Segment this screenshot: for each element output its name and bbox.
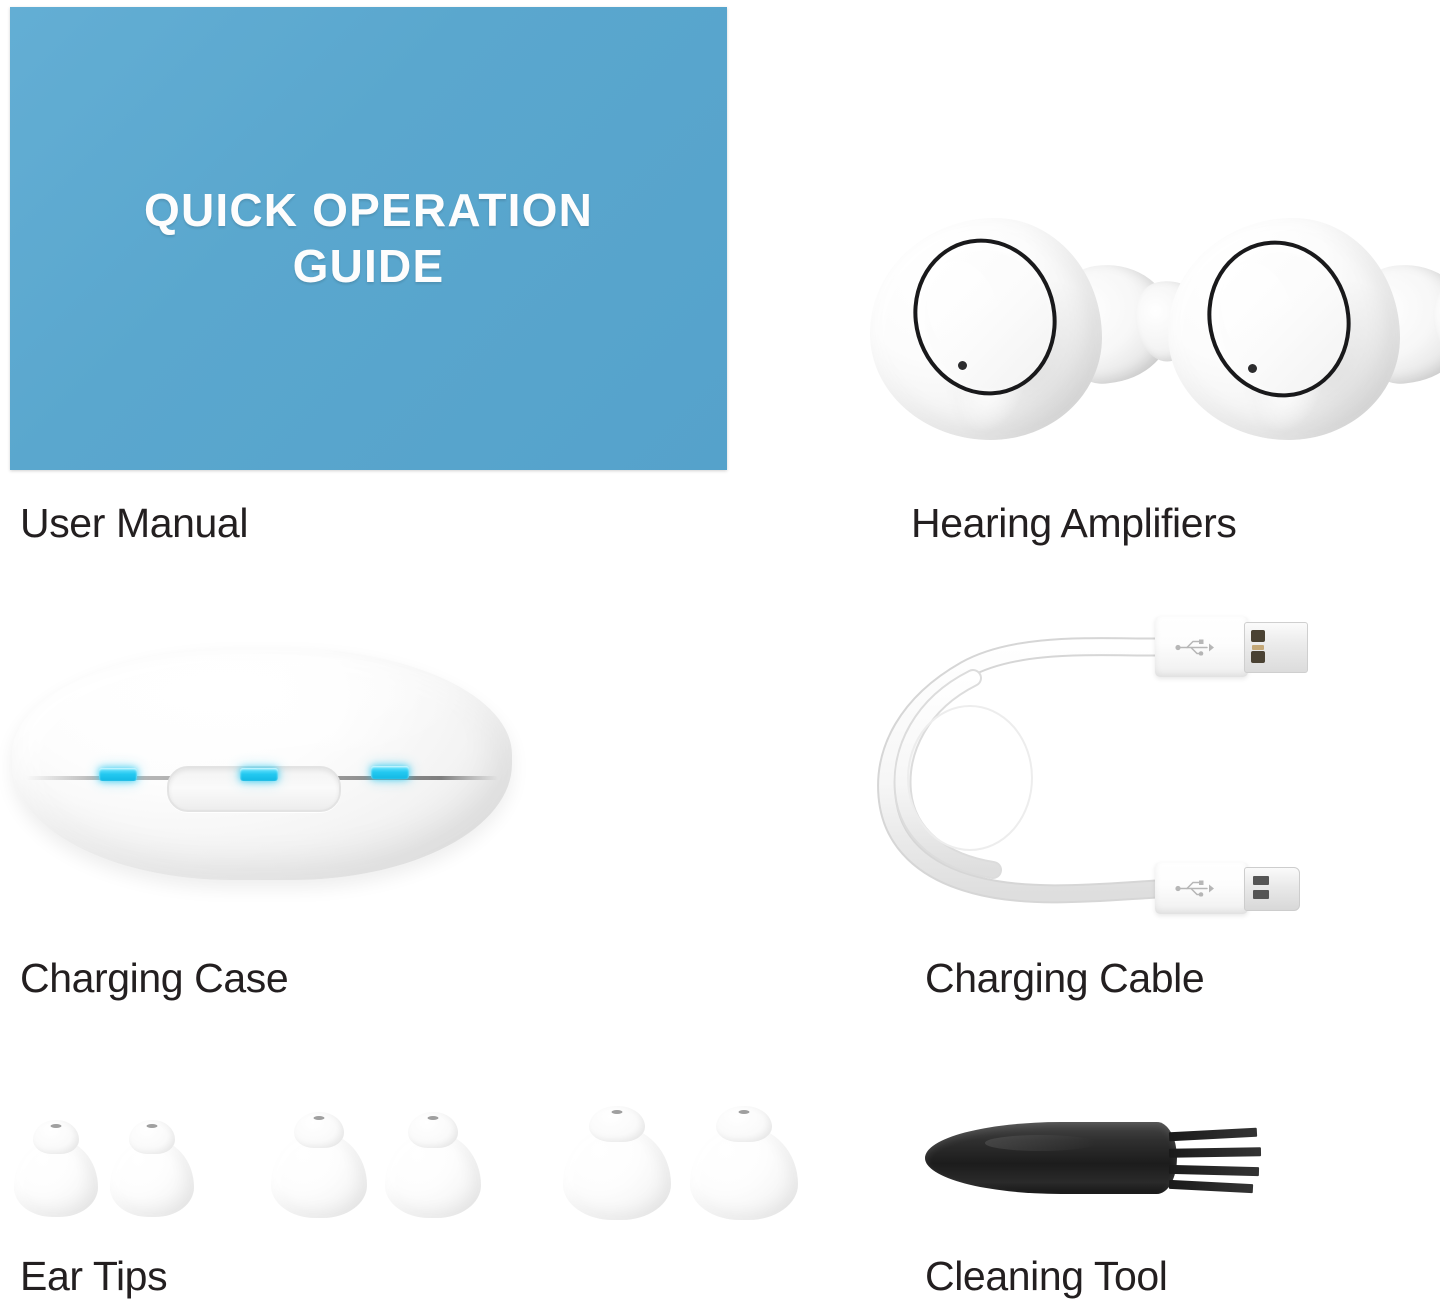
earbud-left-microphone-hole	[958, 361, 967, 370]
cleaning-tool-bristle-4	[1169, 1180, 1253, 1193]
manual-cover-title: QUICK OPERATION GUIDE	[10, 182, 727, 294]
charging-case-body	[12, 648, 512, 880]
ear-tip-medium-1-hole	[314, 1116, 325, 1120]
charging-case-led-1	[99, 768, 137, 781]
earbud-right-ring-highlight	[1210, 254, 1306, 374]
label-charging-cable: Charging Cable	[925, 958, 1204, 999]
earbud-right-microphone-hole	[1248, 364, 1257, 373]
micro-usb-metal-shell	[1244, 867, 1300, 911]
user-manual-booklet: QUICK OPERATION GUIDE	[10, 7, 727, 470]
earbud-left-ring-highlight	[916, 252, 1012, 372]
label-charging-case: Charging Case	[20, 958, 288, 999]
cleaning-tool-bristle-1	[1169, 1128, 1257, 1142]
usb-icon	[1173, 880, 1215, 897]
ear-tip-large-2-hole	[739, 1110, 750, 1114]
label-hearing-amplifiers: Hearing Amplifiers	[911, 503, 1237, 544]
usb-a-metal-shell	[1244, 622, 1308, 673]
earbud-right	[1168, 218, 1440, 448]
cleaning-tool-handle	[925, 1122, 1177, 1194]
label-ear-tips: Ear Tips	[20, 1256, 167, 1297]
product-contents-layout: QUICK OPERATION GUIDE User Manual Hearin…	[0, 0, 1440, 1308]
micro-usb-connector	[1155, 862, 1248, 914]
charging-case-led-2	[240, 768, 278, 781]
label-cleaning-tool: Cleaning Tool	[925, 1256, 1168, 1297]
cleaning-tool-bristle-3	[1169, 1165, 1259, 1176]
manual-title-line-2: GUIDE	[10, 238, 727, 294]
charging-case-lid-highlight	[42, 654, 482, 774]
usb-a-connector	[1155, 616, 1248, 677]
ear-tip-small-2-hole	[147, 1124, 158, 1128]
manual-title-line-1: QUICK OPERATION	[10, 182, 727, 238]
label-user-manual: User Manual	[20, 503, 248, 544]
usb-icon	[1173, 638, 1215, 655]
ear-tip-medium-2-hole	[428, 1116, 439, 1120]
charging-case-led-3	[371, 766, 409, 779]
cleaning-tool-bristle-2	[1169, 1147, 1261, 1158]
ear-tip-small-1-hole	[51, 1124, 62, 1128]
earbud-left	[870, 218, 1170, 448]
ear-tip-large-1-hole	[612, 1110, 623, 1114]
charging-cable	[855, 600, 1325, 940]
cleaning-tool	[925, 1110, 1265, 1215]
